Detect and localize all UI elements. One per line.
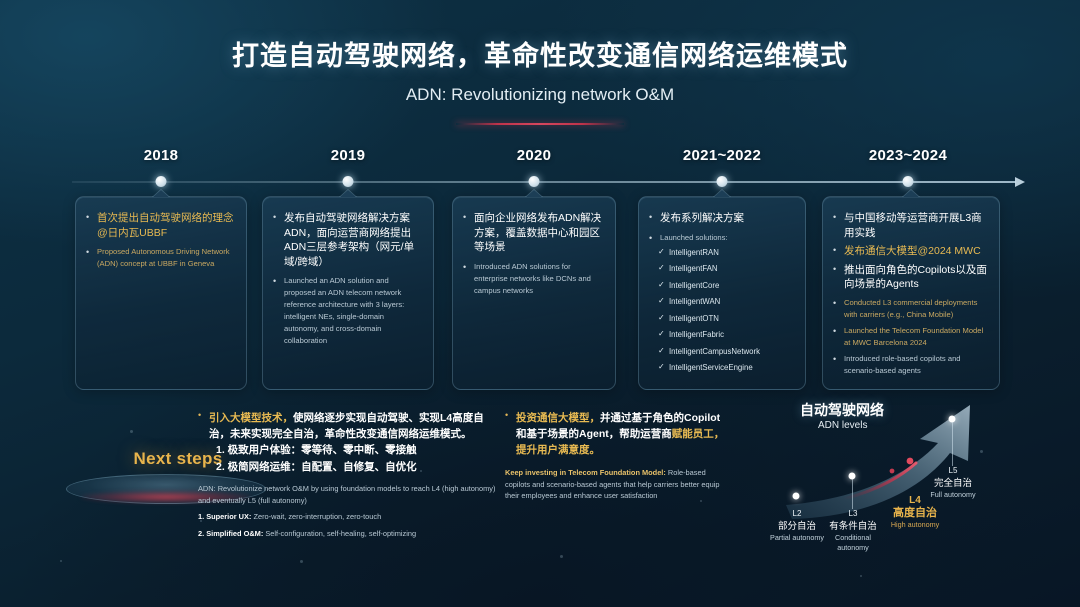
timeline-card-2019[interactable]: 发布自动驾驶网络解决方案ADN，面向运营商网络提出ADN三层参考架构（网元/单域… (262, 196, 434, 390)
card-bullet: 面向企业网络发布ADN解决方案，覆盖数据中心和园区等场景 (463, 211, 603, 255)
left-block-en-intro: ADN: Revolutionize network O&M by using … (198, 483, 498, 506)
left-block-num-en-2: 2. Simplified O&M: Self-configuration, s… (198, 528, 498, 540)
timeline-year-2018: 2018 (144, 147, 179, 164)
card-bullet: 推出面向角色的Copilots以及面向场景的Agents (833, 263, 987, 292)
timeline-year-2023-2024: 2023~2024 (869, 147, 947, 164)
adn-level-l2: L2 部分自治 Partial autonomy (768, 508, 826, 543)
adn-title-cn: 自动驾驶网络 (800, 400, 884, 420)
bullet-text-en-gold: Launched the Telecom Foundation Model at… (844, 325, 987, 349)
mid-block-en-bold: Keep investing in Telecom Foundation Mod… (505, 468, 666, 477)
mid-block-cn-gold-1: 投资通信大模型， (516, 412, 600, 424)
timeline-card-2020[interactable]: 面向企业网络发布ADN解决方案，覆盖数据中心和园区等场景 Introduced … (452, 196, 616, 390)
timeline-node-2023-2024[interactable] (903, 176, 914, 187)
adn-stem-l5 (952, 422, 953, 466)
timeline-node-2020[interactable] (529, 176, 540, 187)
title-divider (456, 123, 624, 125)
check-item: IntelligentRAN (658, 247, 793, 258)
bullet-text-cn: 面向企业网络发布ADN解决方案，覆盖数据中心和园区等场景 (474, 211, 603, 255)
solution-check-list: IntelligentRAN IntelligentFAN Intelligen… (649, 247, 793, 374)
card-bullet: Introduced role-based copilots and scena… (833, 353, 987, 377)
left-block-num-cn-1: 1. 极致用户体验：零等待、零中断、零接触 (198, 442, 498, 459)
adn-level-cn: 完全自治 (922, 477, 984, 490)
bullet-text-en: Introduced role-based copilots and scena… (844, 353, 987, 377)
mid-block-en: Keep investing in Telecom Foundation Mod… (505, 467, 727, 502)
adn-level-en: Full autonomy (922, 490, 984, 500)
card-bullet: 发布通信大模型@2024 MWC (833, 244, 987, 259)
card-pointer-icon (339, 189, 357, 197)
num-en-rest: Zero-wait, zero-interruption, zero-touch (251, 512, 381, 521)
num-en-bold: 1. Superior UX: (198, 512, 251, 521)
adn-level-l3: L3 有条件自治 Conditional autonomy (822, 508, 884, 553)
adn-node-l2[interactable] (793, 493, 800, 500)
card-bullet: Introduced ADN solutions for enterprise … (463, 261, 603, 297)
adn-levels-chart: 自动驾驶网络 ADN levels L2 部分自治 Partial autono… (770, 395, 1070, 575)
check-item: IntelligentCore (658, 280, 793, 291)
check-item: IntelligentFabric (658, 329, 793, 340)
page-title: 打造自动驾驶网络，革命性改变通信网络运维模式 (0, 34, 1080, 73)
adn-level-en: High autonomy (882, 520, 948, 530)
card-pointer-icon (902, 189, 920, 197)
num-en-rest: Self-configuration, self-healing, self-o… (263, 529, 416, 538)
card-pointer-icon (525, 189, 543, 197)
slide-canvas: 打造自动驾驶网络，革命性改变通信网络运维模式 ADN: Revolutioniz… (0, 0, 1080, 607)
card-bullet: Conducted L3 commercial deployments with… (833, 297, 987, 321)
left-block-num-cn-2: 2. 极简网络运维：自配置、自修复、自优化 (198, 459, 498, 476)
check-item: IntelligentFAN (658, 263, 793, 274)
card-bullet: Launched the Telecom Foundation Model at… (833, 325, 987, 349)
next-steps-block-mid: 投资通信大模型，并通过基于角色的Copilot和基于场景的Agent，帮助运营商… (505, 410, 727, 502)
timeline-node-2018[interactable] (156, 176, 167, 187)
bullet-text-en-gold: Conducted L3 commercial deployments with… (844, 297, 987, 321)
bullet-text-cn: 推出面向角色的Copilots以及面向场景的Agents (844, 263, 987, 292)
adn-title-en: ADN levels (818, 420, 867, 431)
left-block-num-en-1: 1. Superior UX: Zero-wait, zero-interrup… (198, 511, 498, 523)
timeline-year-2019: 2019 (331, 147, 366, 164)
adn-level-en: Partial autonomy (768, 533, 826, 543)
next-steps-block-left: 引入大模型技术，使网络逐步实现自动驾驶、实现L4高度自治，未来实现完全自治，革命… (198, 410, 498, 539)
bullet-text-cn: 首次提出自动驾驶网络的理念 @日内瓦UBBF (97, 211, 234, 240)
timeline-card-2021-2022[interactable]: 发布系列解决方案 Launched solutions: Intelligent… (638, 196, 806, 390)
bullet-text-cn: 与中国移动等运营商 (844, 212, 939, 224)
num-en-bold: 2. Simplified O&M: (198, 529, 263, 538)
left-block-cn-gold: 引入大模型技术， (209, 412, 293, 424)
card-bullet: Launched an ADN solution and proposed an… (273, 275, 421, 347)
card-bullet: 发布自动驾驶网络解决方案ADN，面向运营商网络提出ADN三层参考架构（网元/单域… (273, 211, 421, 269)
bullet-text-cn: ADN，面向运营商网络提出ADN三层参考架构（网元/单域/跨域） (284, 227, 414, 268)
bullet-text-cn-gold: 发布自动驾驶网络解决方案 (284, 212, 410, 224)
card-bullet: 与中国移动等运营商开展L3商用实践 (833, 211, 987, 240)
bullet-text-cn-gold: 发布通信大模型@2024 MWC (844, 244, 987, 259)
bullet-text-en: and proposed an ADN telecom network refe… (284, 276, 404, 345)
check-item: IntelligentServiceEngine (658, 362, 793, 373)
check-item: IntelligentCampusNetwork (658, 346, 793, 357)
adn-level-tag: L2 (768, 508, 826, 520)
bullet-text-en: Launched solutions: (660, 232, 793, 244)
bullet-text-en: Proposed Autonomous Driving Network (ADN… (97, 246, 234, 270)
timeline-card-2023-2024[interactable]: 与中国移动等运营商开展L3商用实践 发布通信大模型@2024 MWC 推出面向角… (822, 196, 1000, 390)
timeline-year-2021-2022: 2021~2022 (683, 147, 761, 164)
card-bullet: Proposed Autonomous Driving Network (ADN… (86, 246, 234, 270)
adn-stem-l3 (852, 479, 853, 509)
timeline-node-2021-2022[interactable] (717, 176, 728, 187)
check-item: IntelligentWAN (658, 296, 793, 307)
adn-level-cn: 高度自治 (882, 507, 948, 520)
timeline-axis (72, 181, 1016, 183)
bullet-text-en: Introduced ADN solutions for enterprise … (474, 261, 603, 297)
card-pointer-icon (713, 189, 731, 197)
adn-level-cn: 部分自治 (768, 520, 826, 533)
page-subtitle: ADN: Revolutionizing network O&M (0, 85, 1080, 105)
adn-level-l4: L4 高度自治 High autonomy (882, 495, 948, 530)
card-pointer-icon (152, 189, 170, 197)
adn-level-tag: L5 (922, 465, 984, 477)
bullet-text-cn: 发布系列解决方案 (660, 211, 793, 226)
check-item: IntelligentOTN (658, 313, 793, 324)
timeline-card-2018[interactable]: 首次提出自动驾驶网络的理念 @日内瓦UBBF Proposed Autonomo… (75, 196, 247, 390)
slide-header: 打造自动驾驶网络，革命性改变通信网络运维模式 ADN: Revolutioniz… (0, 34, 1080, 105)
timeline-year-2020: 2020 (517, 147, 552, 164)
adn-level-l5: L5 完全自治 Full autonomy (922, 465, 984, 500)
adn-level-en: Conditional autonomy (822, 533, 884, 553)
bullet-text-en-gold: Launched an ADN solution (284, 276, 374, 285)
timeline-node-2019[interactable] (343, 176, 354, 187)
adn-level-tag: L3 (822, 508, 884, 520)
adn-level-cn: 有条件自治 (822, 520, 884, 533)
card-bullet: 首次提出自动驾驶网络的理念 @日内瓦UBBF (86, 211, 234, 240)
card-bullet: Launched solutions: (649, 232, 793, 244)
card-bullet: 发布系列解决方案 (649, 211, 793, 226)
adn-arrow-graphic (770, 395, 1070, 575)
